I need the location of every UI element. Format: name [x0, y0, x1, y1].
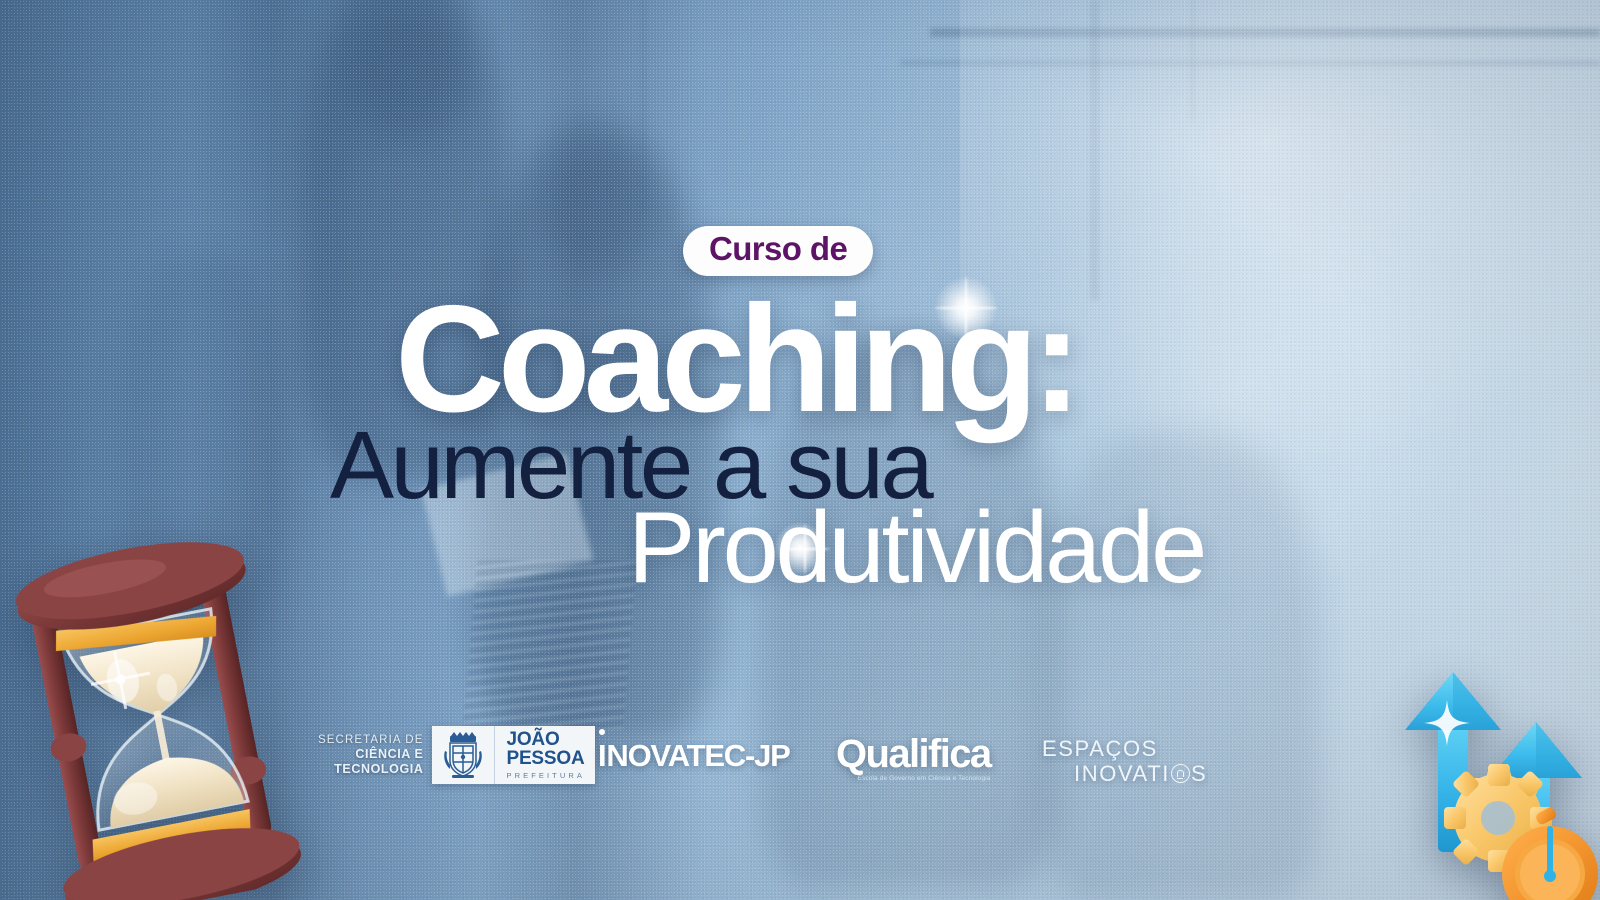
promo-banner: Curso de Coaching: Aumente a sua Produti… — [0, 0, 1600, 900]
jp-word-prefeitura: PREFEITURA — [506, 771, 585, 780]
espacos-s: S — [1191, 761, 1207, 786]
inovatec-i: I — [598, 738, 605, 773]
joao-pessoa-wordmark: JOÃO PESSOA PREFEITURA — [495, 726, 595, 784]
page-title-line-3: Produtividade — [628, 498, 1204, 599]
window-frame-line — [640, 0, 647, 210]
espacos-inovati: INOVATI — [1074, 761, 1170, 786]
inovatec-rest: NOVATEC-JP — [606, 738, 789, 774]
background-striped-detail — [463, 560, 638, 730]
background-silhouette-head — [352, 10, 470, 140]
coat-of-arms-icon — [432, 726, 495, 784]
espacos-line-1: ESPAÇOS — [1042, 736, 1207, 761]
joao-pessoa-badge: JOÃO PESSOA PREFEITURA — [432, 726, 595, 784]
secretaria-text: SECRETARIA DE CIÊNCIA E TECNOLOGIA — [318, 733, 423, 778]
espacos-line-2: INOVATI S — [1042, 761, 1207, 786]
secretaria-line-2: CIÊNCIA E — [318, 747, 423, 762]
partner-logo-row: SECRETARIA DE CIÊNCIA E TECNOLOGIA — [0, 716, 1600, 796]
lightbulb-icon — [1171, 764, 1190, 783]
logo-espacos-inovativos: ESPAÇOS INOVATI S — [1042, 736, 1207, 786]
qualifica-subtitle: Escola de Governo em Ciência e Tecnologi… — [836, 775, 991, 782]
eyebrow-badge: Curso de — [683, 226, 873, 276]
jp-word-pessoa: PESSOA — [506, 750, 585, 768]
inovatec-dot-icon — [599, 729, 605, 735]
logo-secretaria-joao-pessoa: SECRETARIA DE CIÊNCIA E TECNOLOGIA — [318, 726, 595, 784]
inovatec-lead-letter: I — [598, 738, 605, 774]
secretaria-line-3: TECNOLOGIA — [318, 762, 423, 777]
logo-qualifica: Qualifica Escola de Governo em Ciência e… — [836, 734, 991, 782]
qualifica-wordmark: Qualifica — [836, 734, 991, 774]
logo-inovatec-jp: I NOVATEC-JP — [598, 738, 790, 774]
secretaria-line-1: SECRETARIA DE — [318, 733, 423, 747]
jp-word-joao: JOÃO — [506, 731, 585, 749]
